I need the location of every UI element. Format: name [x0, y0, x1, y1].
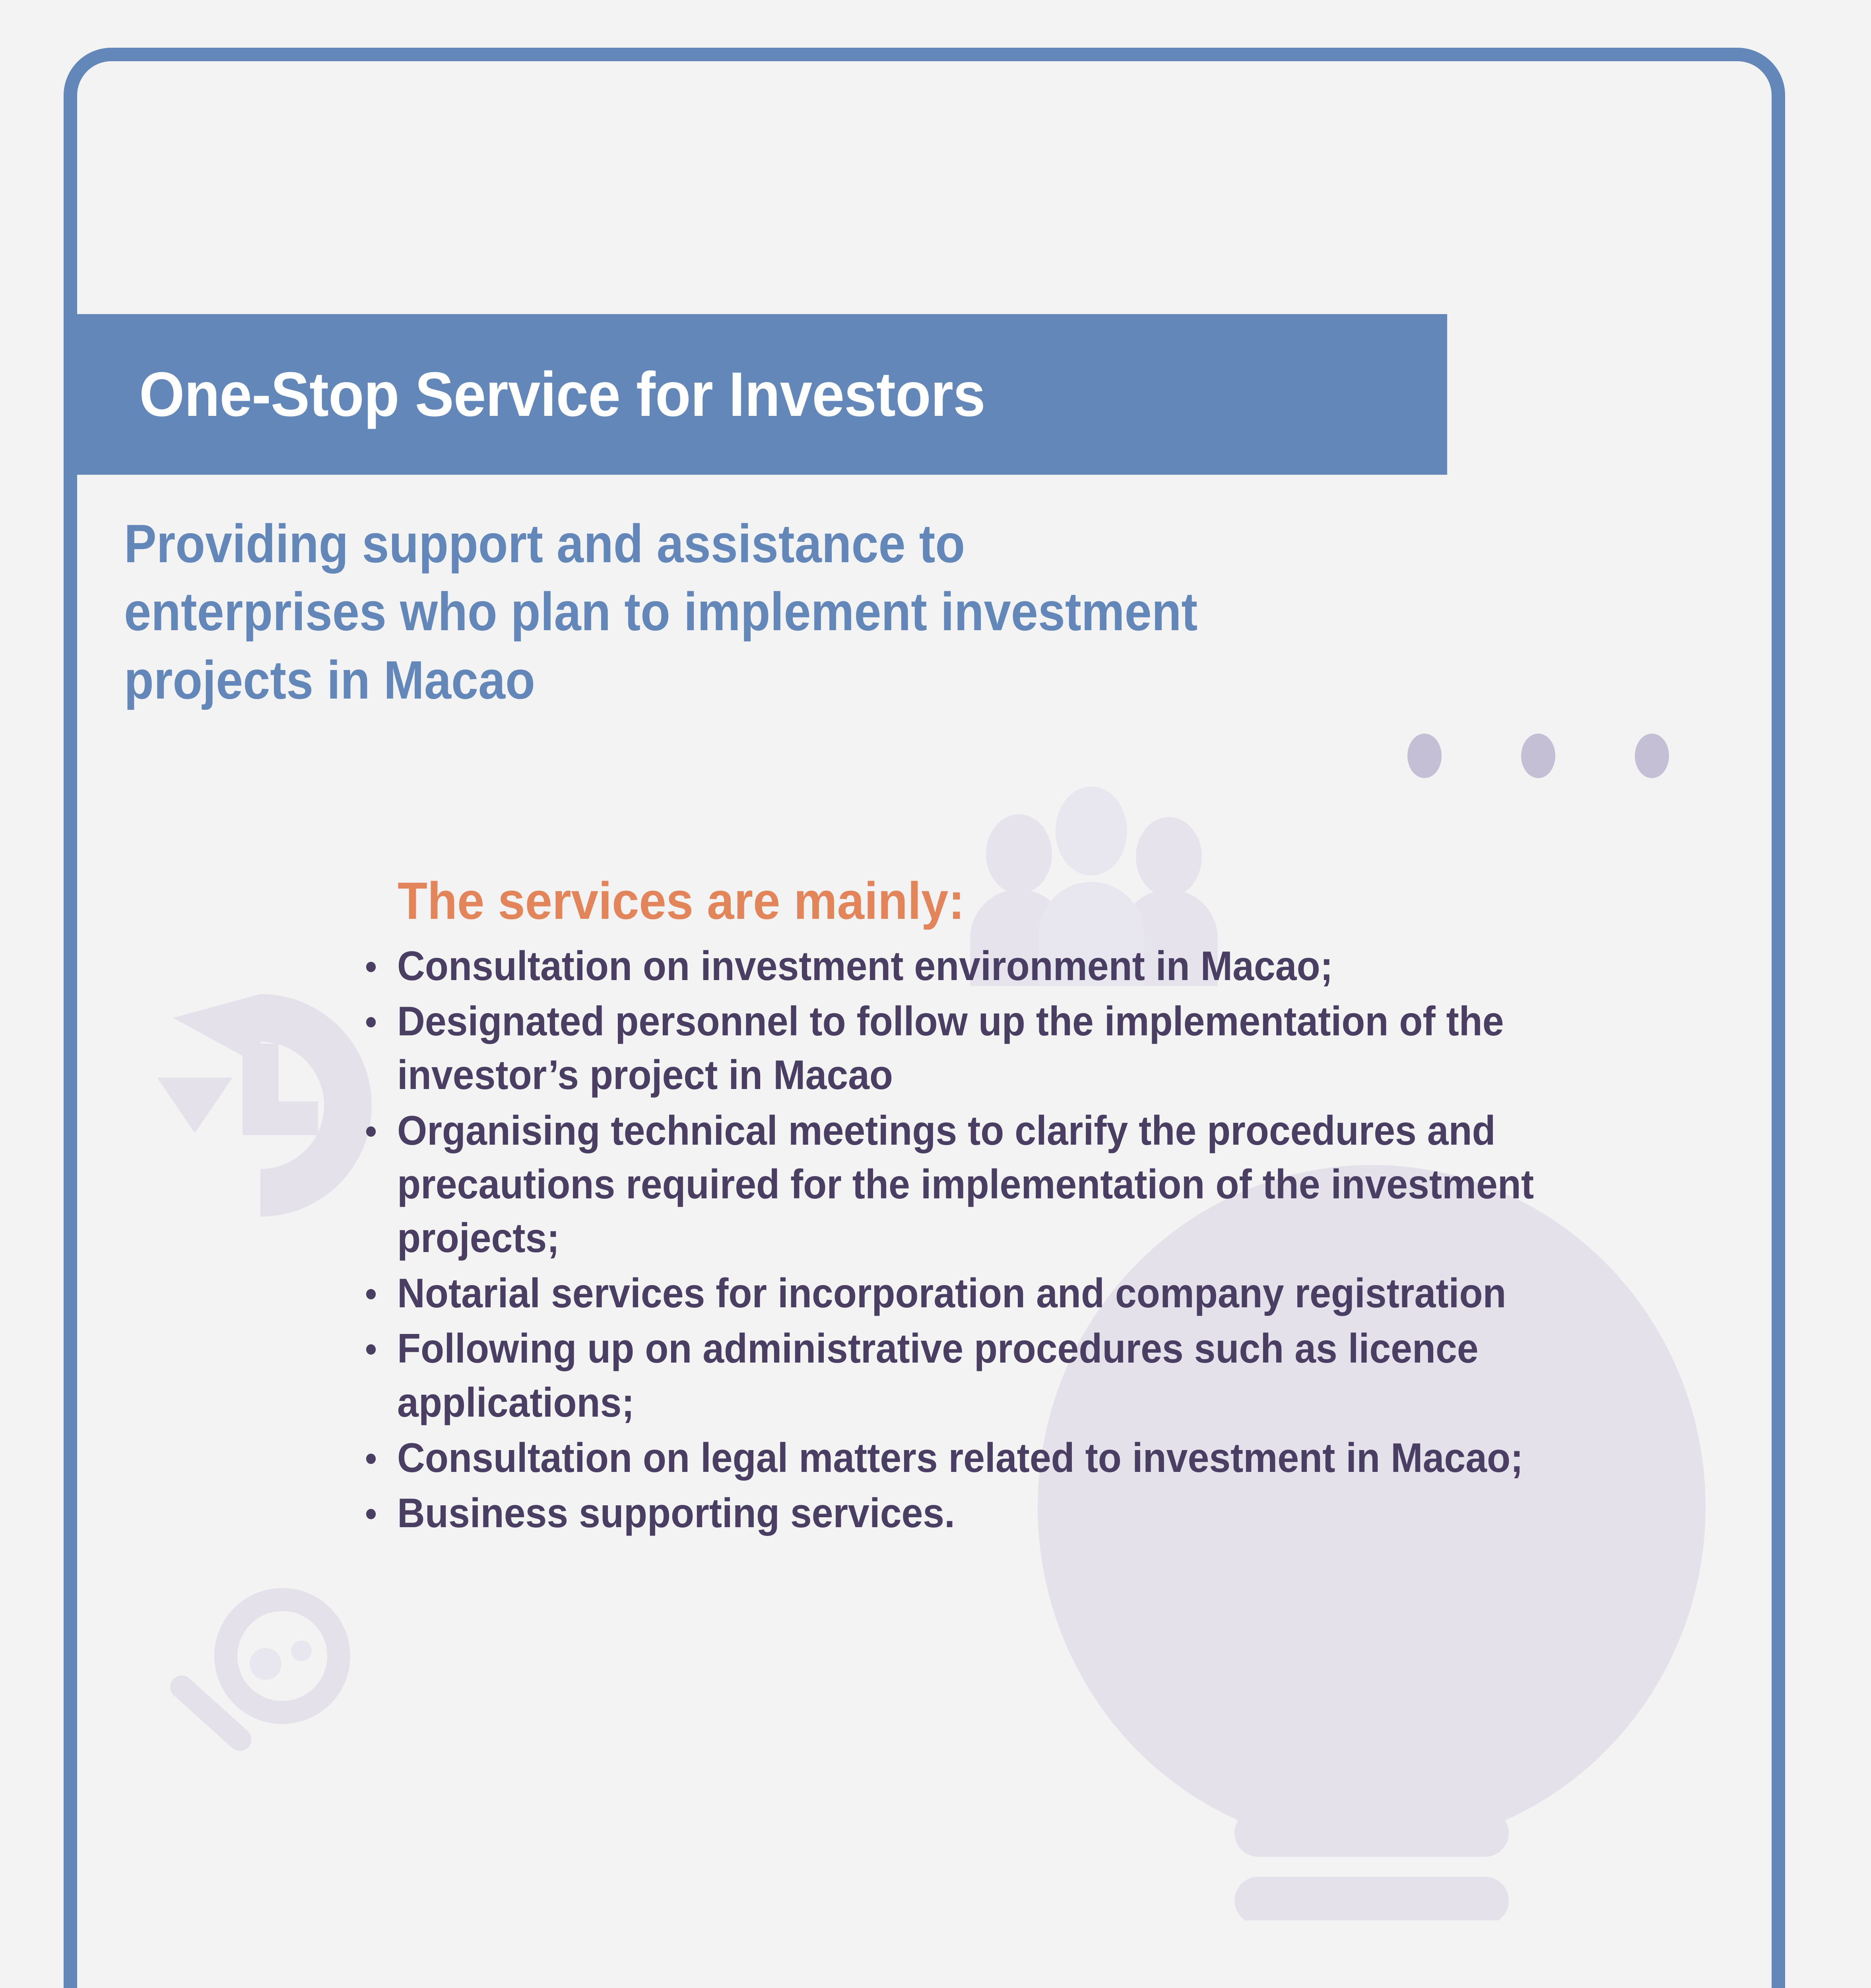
- dot: [1635, 734, 1669, 778]
- list-item: Consultation on legal matters related to…: [350, 1431, 1652, 1485]
- list-item: Organising technical meetings to clarify…: [350, 1104, 1652, 1266]
- services-heading: The services are mainly:: [398, 871, 1655, 931]
- title-banner: One-Stop Service for Investors: [64, 314, 1447, 475]
- list-item: Designated personnel to follow up the im…: [350, 995, 1652, 1102]
- dot: [1407, 734, 1442, 778]
- dot: [1521, 734, 1555, 778]
- decorative-dots-top-right: [1407, 734, 1669, 778]
- magnifier-icon: [151, 1571, 358, 1793]
- list-item: Business supporting services.: [350, 1487, 1652, 1540]
- list-item: Notarial services for incorporation and …: [350, 1267, 1652, 1320]
- list-item: Consultation on investment environment i…: [350, 940, 1652, 993]
- page-title: One-Stop Service for Investors: [139, 359, 985, 431]
- poster-page: One-Stop Service for Investors Providing…: [0, 0, 1871, 1988]
- list-item: Following up on administrative procedure…: [350, 1322, 1652, 1429]
- services-list: Consultation on investment environment i…: [350, 940, 1749, 1540]
- subtitle-text: Providing support and assistance to ente…: [124, 510, 1233, 714]
- services-section: The services are mainly: Consultation on…: [350, 871, 1749, 1542]
